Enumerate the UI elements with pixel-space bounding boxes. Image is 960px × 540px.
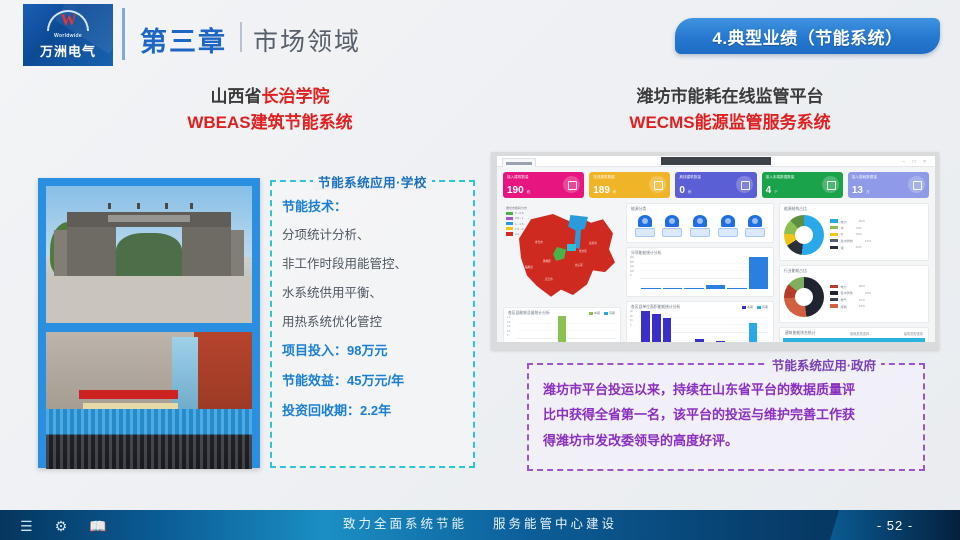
bar-series-2 [641,305,768,342]
browser-tabbar: − □ × [497,156,935,167]
campus-ceremony-photo [46,332,252,469]
kpi-value: 190 [507,185,524,196]
heat-icon[interactable] [717,215,739,237]
tech-item: 非工作时段用能管控、 [282,253,472,272]
donut-card-bottom: 行业能耗占比 电力48% 集中供热26% 燃气12% 煤炭14% [779,265,929,323]
kpi-card: 接入能耗数据量 13万 [848,172,929,198]
header-divider [122,8,125,60]
donut-legend-top: 电力52% 水14% 气10% 集中供热12% 煤12% [830,219,871,252]
legend-entry: 煤12% [830,245,871,250]
kpi-unit: 栋 [688,190,692,194]
legend-entry: 燃气12% [830,297,871,302]
left-case-title-prefix: 山西省 [211,87,262,106]
legend-entry: 电力52% [830,219,871,224]
logo-mark-icon: W [47,10,89,32]
kpi-card: 接入建筑数量 190栋 [503,172,584,198]
left-info-box-title: 节能系统应用·学校 [270,172,475,192]
bar-chart-card-3: 分项能耗统计分析 8006004002000 [626,247,774,297]
kpi-unit: 个 [774,190,778,194]
header-title-separator [240,22,242,52]
campus-gate-photo [46,186,252,323]
kpi-chart-icon [822,176,839,193]
kpi-value: 0 [679,185,685,196]
donut-title-bottom: 行业能耗占比 [780,266,807,274]
section-badge-label: 4.典型业绩（节能系统） [712,24,902,49]
page-number: - 52 - [877,518,913,533]
map-legend-item: 1.5 - 2 [506,227,527,231]
kpi-card: 接入末端数据数量 4个 [762,172,843,198]
electricity-icon[interactable] [634,215,656,237]
map-region-label: 奎文区 [579,249,587,253]
kpi-chart-icon [563,176,580,193]
window-controls[interactable]: − □ × [902,159,929,165]
donut-chart-top [784,215,824,255]
kpi-value: 189 [593,185,610,196]
dashboard-screenshot: − □ × 接入建筑数量 190栋 在线建筑数量 189栋 离线建筑数量 0栋 [491,152,939,350]
tech-item: 分项统计分析、 [282,224,472,243]
kpi-chart-icon [736,176,753,193]
kpi-row: 接入建筑数量 190栋 在线建筑数量 189栋 离线建筑数量 0栋 接入末端数据… [497,167,935,198]
legend-entry: 电力48% [830,284,871,289]
slide-root: W Worldwide 万洲电气 第三章 市场领域 4.典型业绩（节能系统） 山… [0,0,960,540]
browser-tab[interactable] [502,158,536,167]
metric-saving: 节能效益：45万元/年 [282,370,472,389]
table-filter-2[interactable]: 建筑类型选择 [904,331,923,336]
energy-types-card: 能源分类 [626,203,774,243]
company-logo: W Worldwide 万洲电气 [23,4,113,66]
donut-legend-bottom: 电力48% 集中供热26% 燃气12% 煤炭14% [830,284,871,310]
table-header-row [783,338,925,342]
region-map-cyan-district[interactable] [567,244,576,251]
note-line: 潍坊市平台投运以来，持续在山东省平台的数据质量评 [543,377,913,402]
bar-series-1 [518,311,615,342]
metric-payback: 投资回收期：2.2年 [282,400,472,419]
donut-title-top: 能源结构占比 [780,204,807,212]
logo-letter: W [47,12,89,30]
right-case-title-line2: WECMS能源监管服务系统 [515,110,945,136]
kpi-card: 离线建筑数量 0栋 [675,172,756,198]
chapter-label: 第三章 [140,20,227,59]
water-icon[interactable] [661,215,683,237]
section-badge: 4.典型业绩（节能系统） [675,18,940,54]
ranking-table-title: 建筑能耗排名统计 [785,331,815,336]
map-region-label: 坊子区 [575,263,583,267]
kpi-value: 4 [766,185,772,196]
bar-series-3 [641,249,768,289]
ranking-table-card: 建筑能耗排名统计 能耗类型选择 建筑类型选择 [779,327,929,342]
table-filter-1[interactable]: 能耗类型选择 [850,331,869,336]
donut-card-top: 能源结构占比 电力52% 水14% 气10% 集中供热12% 煤12% [779,203,929,261]
right-note-content: 潍坊市平台投运以来，持续在山东省平台的数据质量评 比中获得全省第一名，该平台的投… [543,377,913,453]
page-number-block: - 52 - [830,510,960,540]
logo-chinese-name: 万洲电气 [40,41,96,60]
map-region-label: 临朐县 [525,265,533,269]
footer-slogan: 致力全面系统节能 服务能管中心建设 [0,513,960,532]
map-region-label: 安丘市 [545,277,553,281]
left-case-title-line1: 山西省长治学院 [80,84,460,110]
map-legend-item: 0 - 0.5 [506,211,527,215]
map-region-label: 昌邑市 [589,241,597,245]
legend-entry: 煤炭14% [830,304,871,309]
legend-entry: 气10% [830,232,871,237]
right-note-title: 节能系统应用·政府 [527,355,925,375]
kpi-unit: 栋 [613,190,617,194]
kpi-unit: 万 [866,190,870,194]
right-case-title-line1: 潍坊市能耗在线监管平台 [515,84,945,110]
donut-chart-bottom [784,277,824,317]
kpi-chart-icon [649,176,666,193]
gas-icon[interactable] [689,215,711,237]
bar-chart-card-2: 各区县单位面积能耗统计分析 本期 同期 3020100 [626,301,774,342]
map-legend-item: 0.5 - 1 [506,216,527,220]
left-photo-frame [38,178,260,468]
map-region-label: 寿光市 [535,240,543,244]
map-region-label: 潍城区 [543,259,551,263]
note-line: 比中获得全省第一名，该平台的投运与维护完善工作获 [543,402,913,427]
region-map-shape[interactable] [517,214,617,302]
legend-entry: 集中供热12% [830,238,871,243]
left-case-title-line2: WBEAS建筑节能系统 [80,110,460,136]
map-legend-title: 潍坊市能耗分布 [506,206,527,210]
energy-map-card: 潍坊市能耗分布 0 - 0.5 0.5 - 1 1 - 1.5 1.5 - 2 … [503,203,621,307]
metric-investment: 项目投入：98万元 [282,340,472,359]
tech-item: 用热系统优化管控 [282,311,472,330]
kpi-chart-icon [908,176,925,193]
left-info-box-title-label: 节能系统应用·学校 [313,176,432,190]
energy-types-title: 能源分类 [627,204,773,212]
left-case-title-highlight: 长治学院 [262,87,330,106]
kpi-unit: 栋 [527,190,531,194]
legend-entry: 集中供热26% [830,290,871,295]
legend-entry: 水14% [830,225,871,230]
map-region-label: 诸城市 [587,285,595,289]
right-note-title-label: 节能系统应用·政府 [767,359,881,373]
footer-slogan-2: 服务能管中心建设 [493,517,617,531]
note-line: 得潍坊市发改委领导的高度好评。 [543,428,913,453]
page-title: 市场领域 [253,22,361,58]
kpi-value: 13 [852,185,863,196]
right-case-title: 潍坊市能耗在线监管平台 WECMS能源监管服务系统 [515,84,945,137]
footer-slogan-1: 致力全面系统节能 [343,517,467,531]
map-legend-item: 1 - 1.5 [506,222,527,226]
left-case-title: 山西省长治学院 WBEAS建筑节能系统 [80,84,460,137]
tech-item: 水系统供用平衡、 [282,282,472,301]
logo-english-name: Worldwide [54,33,82,39]
bar-chart-card-1: 各区县能耗总量统计分析 本期 同期 1.20.90.60.30 [503,307,621,342]
tech-label: 节能技术： [282,196,472,215]
kpi-card: 在线建筑数量 189栋 [589,172,670,198]
left-info-box-content: 节能技术： 分项统计分析、 非工作时段用能管控、 水系统供用平衡、 用热系统优化… [282,196,472,430]
browser-url-bar[interactable] [661,157,771,165]
coal-icon[interactable] [744,215,766,237]
